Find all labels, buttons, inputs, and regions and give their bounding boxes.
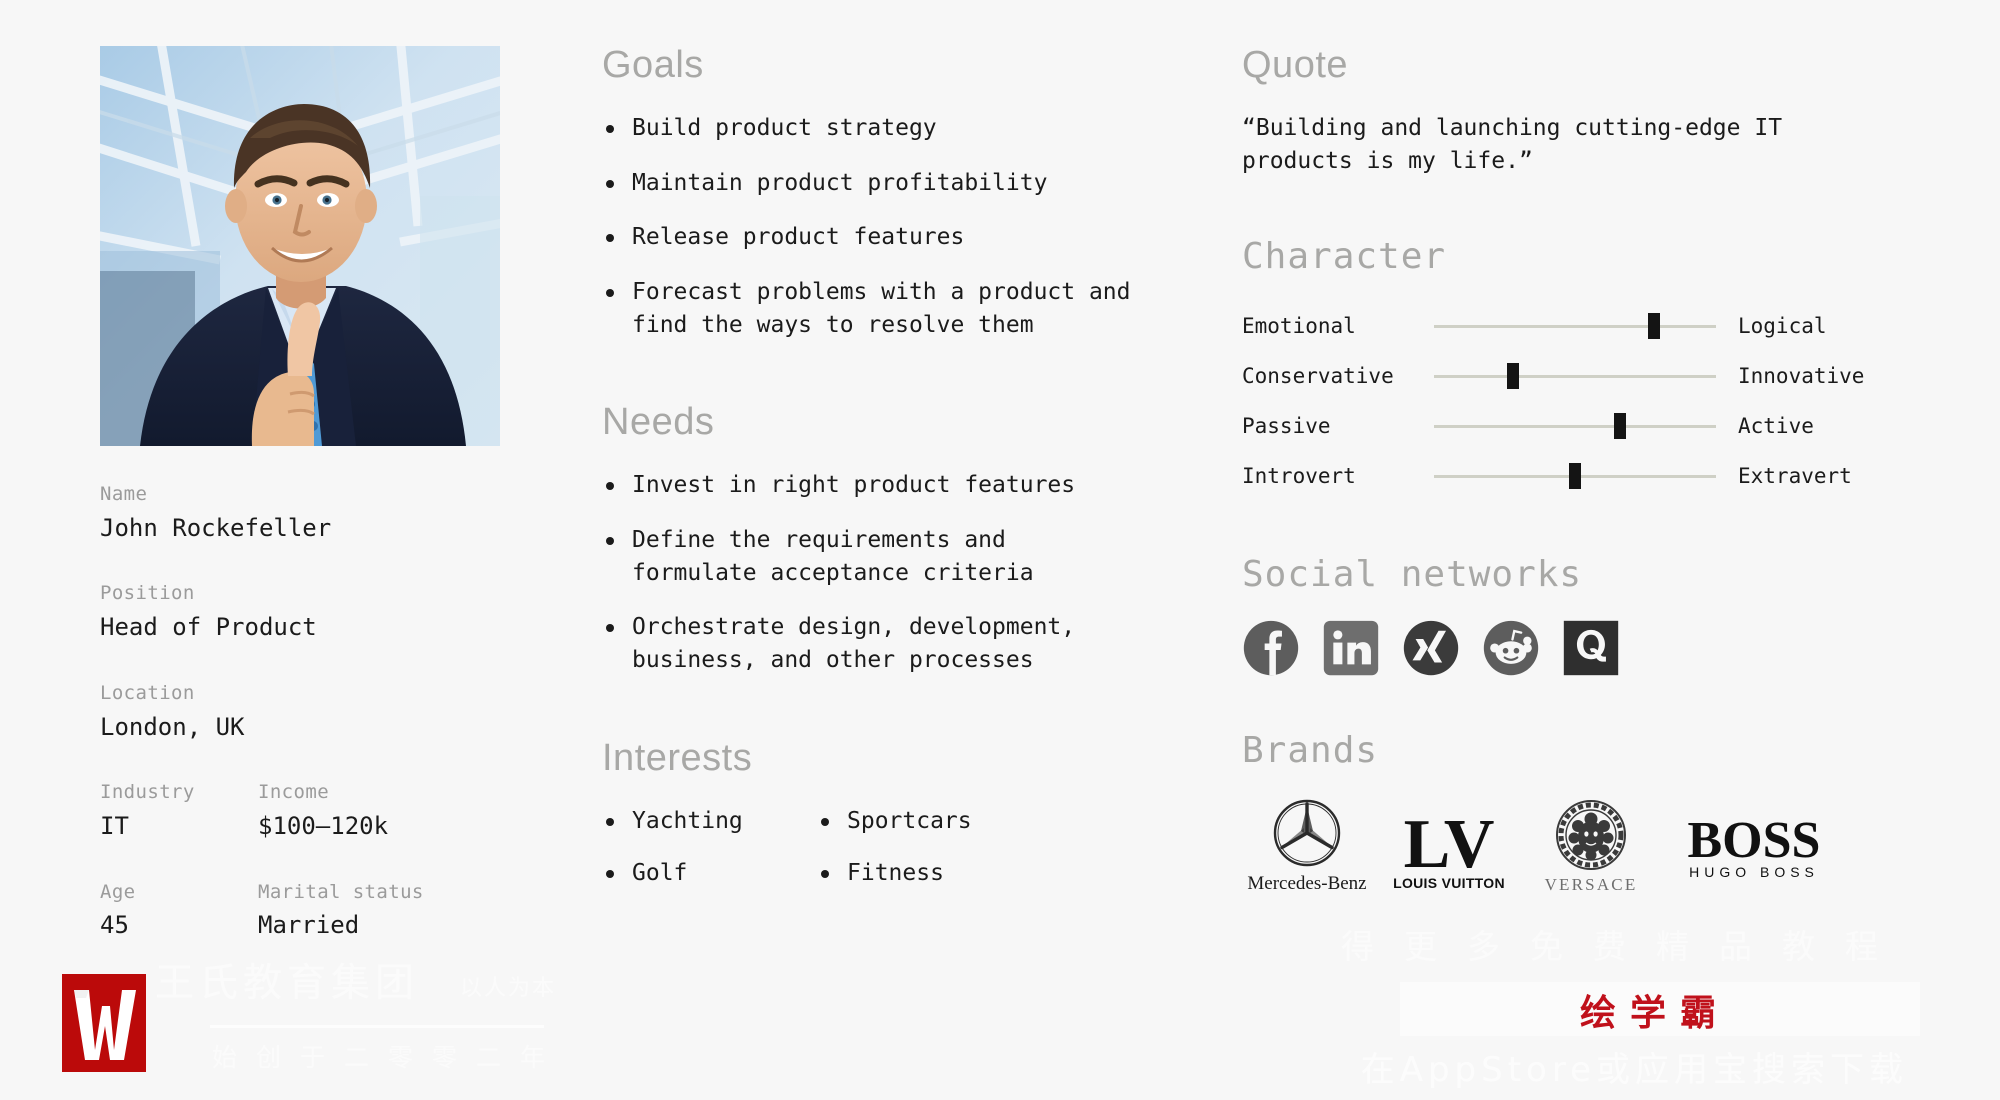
character-heading: Character — [1242, 239, 1900, 275]
slider-rail — [1434, 425, 1716, 428]
list-item: Orchestrate design, development, busines… — [602, 611, 1140, 676]
list-item: Maintain product profitability — [602, 167, 1140, 200]
field-value: John Rockefeller — [100, 511, 500, 546]
social-networks-heading: Social networks — [1242, 557, 1900, 593]
character-scale-row: Introvert Extravert — [1242, 451, 1900, 501]
needs-list: Invest in right product features Define … — [602, 469, 1140, 676]
brand-hugo-boss: BOSS HUGO BOSS — [1674, 795, 1834, 903]
field-location: Location London, UK — [100, 681, 500, 744]
field-label: Income — [258, 780, 498, 806]
facebook-icon[interactable] — [1242, 619, 1300, 677]
scale-left-label: Emotional — [1242, 314, 1422, 338]
character-scale-row: Emotional Logical — [1242, 301, 1900, 351]
list-item: Sportcars — [817, 805, 1140, 838]
scale-slider[interactable] — [1434, 313, 1716, 339]
field-position: Position Head of Product — [100, 581, 500, 644]
scale-slider[interactable] — [1434, 413, 1716, 439]
list-item: Fitness — [817, 857, 1140, 890]
brands-row: Mercedes-Benz LV LOUIS VUITTON — [1242, 795, 1900, 903]
field-value: Head of Product — [100, 610, 500, 645]
slider-rail — [1434, 325, 1716, 328]
field-label: Location — [100, 681, 500, 707]
brands-heading: Brands — [1242, 733, 1900, 769]
list-item: Golf — [602, 857, 817, 890]
section-interests: Interests Yachting Golf Sportcars Fitnes… — [602, 739, 1140, 910]
interests-column-right: Sportcars Fitness — [817, 805, 1140, 910]
slider-thumb[interactable] — [1648, 313, 1660, 339]
section-quote: Quote “Building and launching cutting-ed… — [1242, 46, 1900, 177]
field-industry: Industry IT — [100, 780, 258, 843]
field-value: London, UK — [100, 710, 500, 745]
scale-slider[interactable] — [1434, 363, 1716, 389]
brand-louis-vuitton: LV LOUIS VUITTON — [1390, 795, 1508, 903]
scale-right-label: Logical — [1738, 314, 1827, 338]
character-scale-row: Passive Active — [1242, 401, 1900, 451]
slider-thumb[interactable] — [1569, 463, 1581, 489]
section-social-networks: Social networks — [1242, 557, 1900, 677]
field-label: Marital status — [258, 880, 498, 906]
interests-heading: Interests — [602, 739, 1140, 777]
list-item: Invest in right product features — [602, 469, 1140, 502]
character-scale-row: Conservative Innovative — [1242, 351, 1900, 401]
section-goals: Goals Build product strategy Maintain pr… — [602, 46, 1140, 341]
xing-icon[interactable] — [1402, 619, 1460, 677]
brand-label: LOUIS VUITTON — [1393, 875, 1505, 891]
scale-left-label: Conservative — [1242, 364, 1422, 388]
scale-right-label: Innovative — [1738, 364, 1864, 388]
list-item: Release product features — [602, 221, 1140, 254]
list-item: Define the requirements and formulate ac… — [602, 524, 1140, 589]
scale-left-label: Introvert — [1242, 464, 1422, 488]
field-name: Name John Rockefeller — [100, 482, 500, 545]
list-item: Build product strategy — [602, 112, 1140, 145]
field-label: Position — [100, 581, 500, 607]
brand-label: VERSACE — [1545, 875, 1638, 894]
field-label: Age — [100, 880, 258, 906]
scale-slider[interactable] — [1434, 463, 1716, 489]
brand-versace: VERSACE — [1526, 795, 1656, 903]
field-value: Married — [258, 908, 498, 943]
field-value: IT — [100, 809, 258, 844]
persona-board: Name John Rockefeller Position Head of P… — [0, 0, 2000, 1100]
interests-column-left: Yachting Golf — [602, 805, 817, 910]
field-value: 45 — [100, 908, 258, 943]
needs-heading: Needs — [602, 403, 1140, 441]
field-income: Income $100—120k — [258, 780, 498, 843]
brand-label: Mercedes-Benz — [1247, 873, 1366, 894]
scale-left-label: Passive — [1242, 414, 1422, 438]
field-row-age-marital: Age 45 Marital status Married — [100, 880, 500, 943]
character-scales: Emotional Logical Conservative Innovativ… — [1242, 301, 1900, 501]
quora-icon[interactable] — [1562, 619, 1620, 677]
brand-mark: BOSS — [1688, 812, 1821, 869]
scale-right-label: Active — [1738, 414, 1814, 438]
linkedin-icon[interactable] — [1322, 619, 1380, 677]
interests-grid: Yachting Golf Sportcars Fitness — [602, 805, 1140, 910]
profile-column: Name John Rockefeller Position Head of P… — [0, 0, 500, 1100]
section-character: Character Emotional Logical Conservative — [1242, 239, 1900, 501]
list-item: Forecast problems with a product and fin… — [602, 276, 1140, 341]
field-row-industry-income: Industry IT Income $100—120k — [100, 780, 500, 843]
quote-heading: Quote — [1242, 46, 1900, 84]
scale-right-label: Extravert — [1738, 464, 1852, 488]
social-icons-row — [1242, 619, 1900, 677]
section-needs: Needs Invest in right product features D… — [602, 403, 1140, 676]
field-age: Age 45 — [100, 880, 258, 943]
field-value: $100—120k — [258, 809, 498, 844]
field-label: Industry — [100, 780, 258, 806]
field-label: Name — [100, 482, 500, 508]
section-brands: Brands Mercedes-Benz — [1242, 733, 1900, 903]
goals-needs-column: Goals Build product strategy Maintain pr… — [500, 0, 1140, 1100]
goals-heading: Goals — [602, 46, 1140, 84]
goals-list: Build product strategy Maintain product … — [602, 112, 1140, 341]
brand-label: HUGO BOSS — [1689, 864, 1819, 880]
quote-character-column: Quote “Building and launching cutting-ed… — [1140, 0, 1900, 1100]
reddit-icon[interactable] — [1482, 619, 1540, 677]
slider-thumb[interactable] — [1507, 363, 1519, 389]
list-item: Yachting — [602, 805, 817, 838]
quote-text: “Building and launching cutting-edge IT … — [1242, 112, 1862, 177]
brand-mark: LV — [1404, 806, 1495, 883]
slider-rail — [1434, 375, 1716, 378]
field-marital-status: Marital status Married — [258, 880, 498, 943]
slider-thumb[interactable] — [1614, 413, 1626, 439]
profile-photo — [100, 46, 500, 446]
brand-mercedes-benz: Mercedes-Benz — [1242, 795, 1372, 903]
